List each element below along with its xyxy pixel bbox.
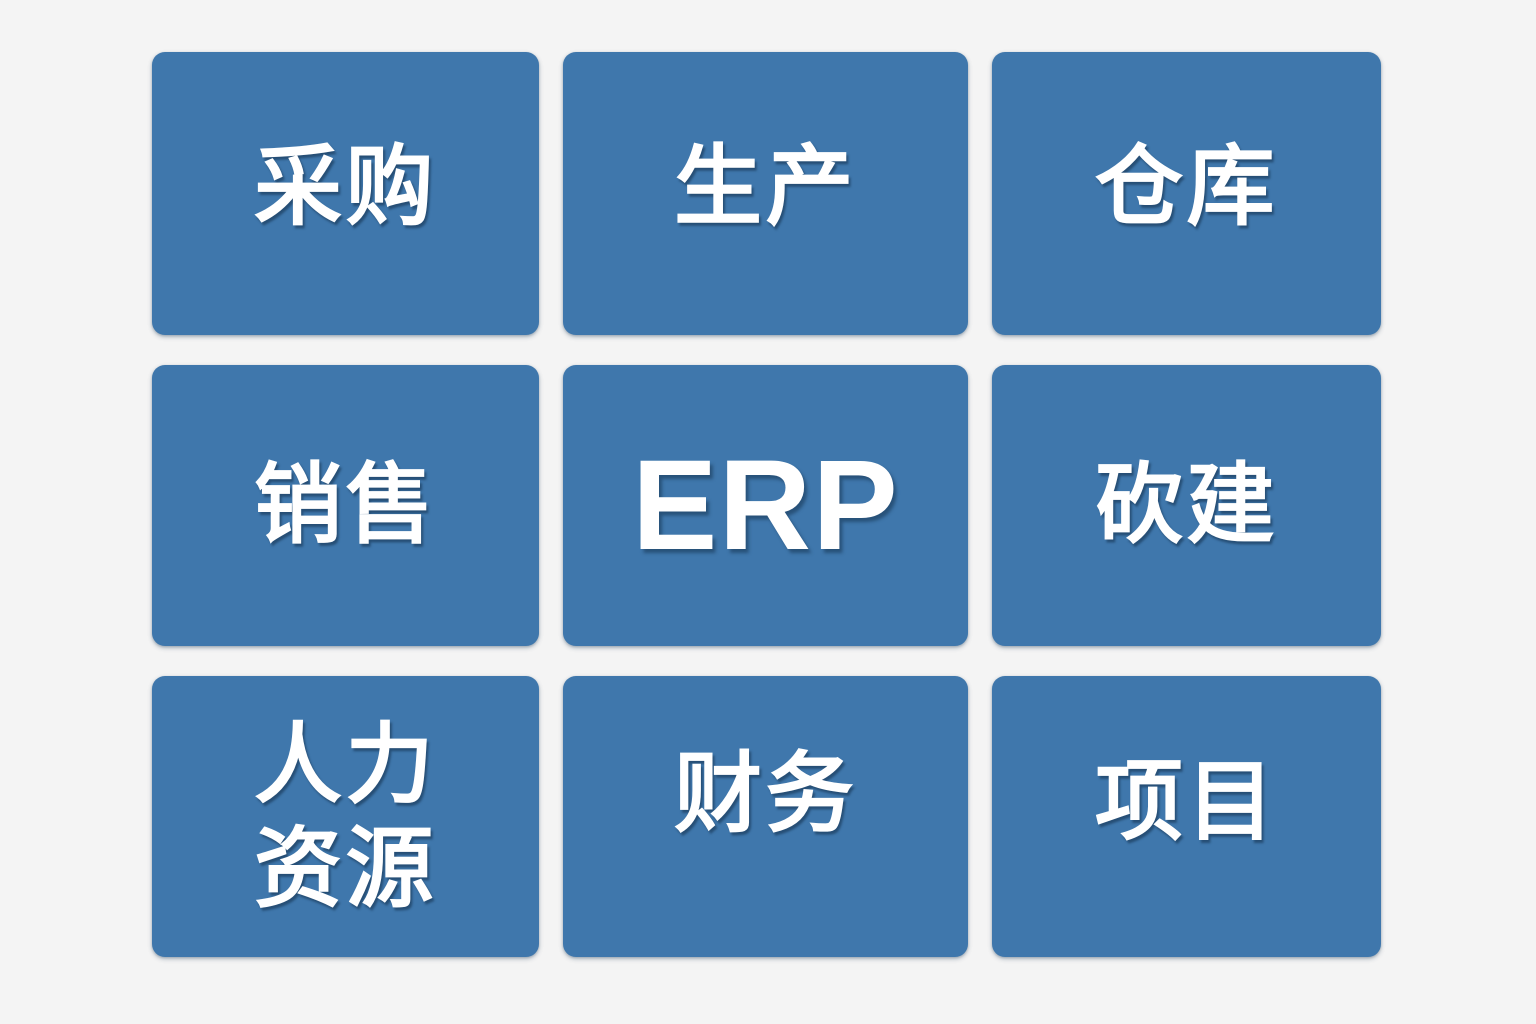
tile-label-warehouse: 仓库 — [1095, 138, 1278, 237]
tile-construction[interactable]: 砍建 — [992, 365, 1381, 646]
tile-label-procurement: 采购 — [254, 138, 437, 237]
tile-label-human-resources: 人力 资源 — [254, 713, 437, 921]
tile-label-erp-core: ERP — [632, 434, 899, 577]
tile-label-production: 生产 — [674, 138, 857, 237]
erp-module-grid: 采购 生产 仓库 销售 ERP 砍建 人力 资源 财务 项目 — [152, 52, 1381, 957]
tile-production[interactable]: 生产 — [563, 52, 968, 335]
tile-warehouse[interactable]: 仓库 — [992, 52, 1381, 335]
tile-human-resources[interactable]: 人力 资源 — [152, 676, 539, 957]
tile-label-construction: 砍建 — [1095, 456, 1278, 555]
tile-label-project: 项目 — [1095, 753, 1278, 852]
tile-erp-core[interactable]: ERP — [563, 365, 968, 646]
tile-project[interactable]: 项目 — [992, 676, 1381, 957]
tile-label-finance: 财务 — [674, 745, 857, 844]
tile-sales[interactable]: 销售 — [152, 365, 539, 646]
tile-finance[interactable]: 财务 — [563, 676, 968, 957]
tile-procurement[interactable]: 采购 — [152, 52, 539, 335]
tile-label-sales: 销售 — [254, 456, 437, 555]
